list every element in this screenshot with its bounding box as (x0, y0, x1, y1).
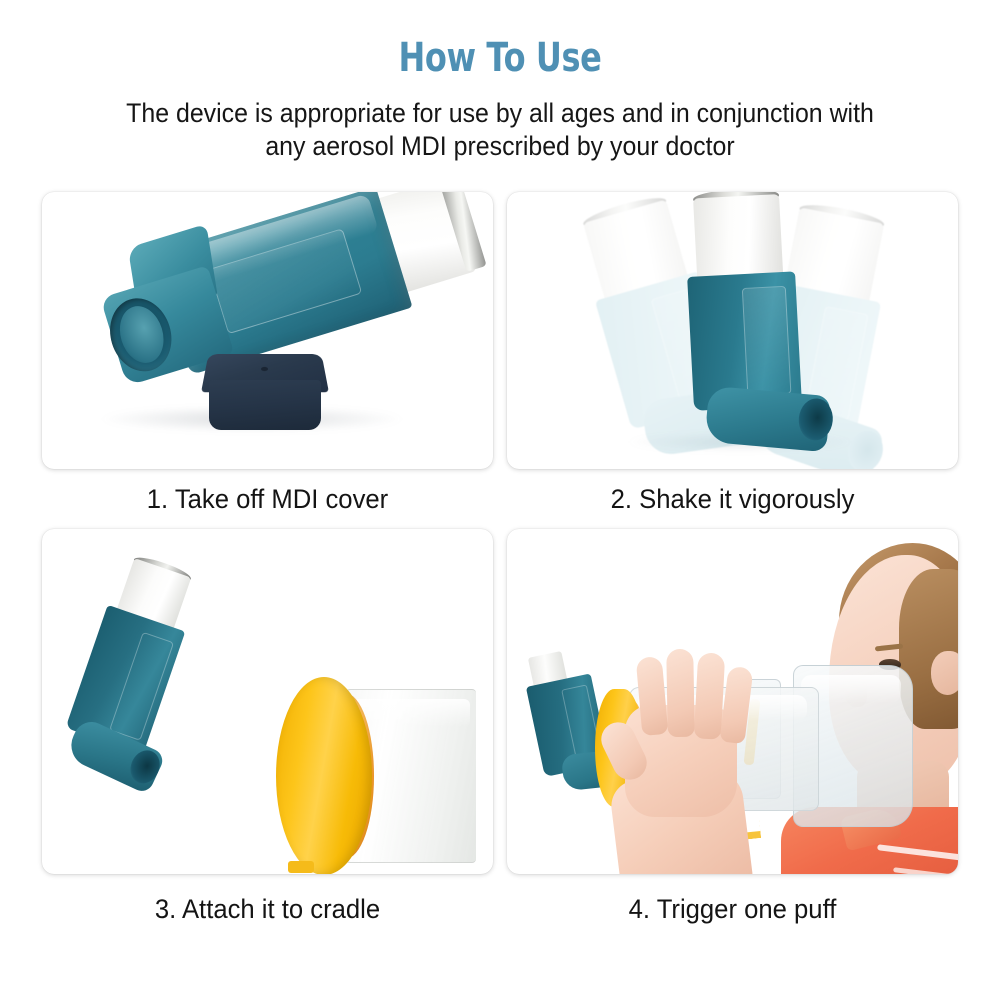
step-1-illustration (42, 192, 493, 469)
canister (693, 194, 783, 284)
step-3-caption: 3. Attach it to cradle (53, 874, 481, 944)
page-title: How To Use (100, 38, 900, 78)
child-finger (636, 656, 669, 736)
step-3-illustration (42, 529, 493, 874)
step-3-card (42, 529, 493, 874)
step-2-illustration (507, 192, 958, 469)
step-4-illustration (507, 529, 958, 874)
yellow-cradle-ring (276, 677, 372, 874)
step-2-card (507, 192, 958, 469)
inhaler-device (679, 193, 811, 429)
step-2-caption: 2. Shake it vigorously (518, 469, 946, 529)
cap-front-face (209, 380, 321, 430)
mdi-cover-cap (205, 350, 325, 432)
cradle-bottom-tab (288, 861, 314, 873)
how-to-use-infographic: How To Use The device is appropriate for… (0, 0, 1000, 1000)
step-4-card (507, 529, 958, 874)
chamber-highlight (352, 699, 470, 727)
step-4-caption: 4. Trigger one puff (518, 874, 946, 944)
steps-grid: 1. Take off MDI cover 2. Shake it vigoro… (42, 192, 958, 952)
child-finger (666, 649, 695, 737)
step-1-caption: 1. Take off MDI cover (53, 469, 481, 529)
inhaler-device (42, 546, 276, 838)
child-ear (931, 651, 958, 695)
page-subtitle: The device is appropriate for use by all… (30, 97, 970, 163)
cap-center-dimple (261, 367, 268, 371)
body-recessed-panel (742, 286, 792, 396)
step-1-card (42, 192, 493, 469)
